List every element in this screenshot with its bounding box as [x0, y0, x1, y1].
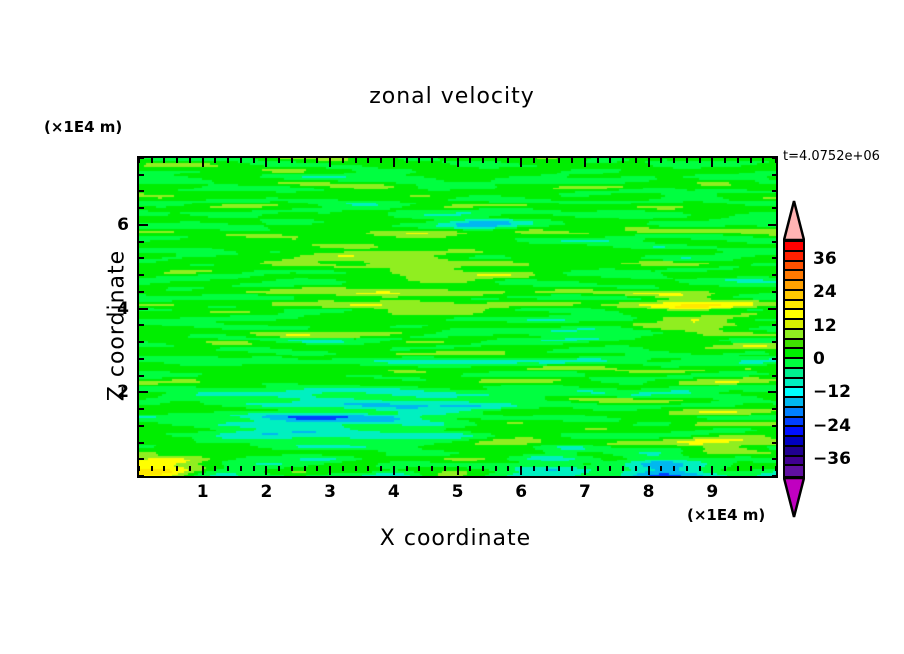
- x-tick-minor: [304, 158, 306, 163]
- page-title: zonal velocity: [0, 84, 904, 109]
- figure-canvas: zonal velocity (×1E4 m) t=4.0752e+06 Z c…: [0, 0, 904, 654]
- x-tick-minor: [546, 466, 548, 471]
- colorbar-segment: [785, 457, 803, 467]
- y-tick-major: [139, 308, 148, 310]
- x-tick-label: 5: [452, 482, 464, 502]
- y-tick-minor: [139, 190, 144, 192]
- x-tick-minor: [482, 466, 484, 471]
- colorbar-tick-label: −24: [813, 416, 851, 436]
- x-tick-minor: [278, 158, 280, 163]
- y-tick-minor: [772, 174, 777, 176]
- x-tick-minor: [227, 466, 229, 471]
- x-tick-minor: [316, 466, 318, 471]
- x-tick-minor: [163, 158, 165, 163]
- x-tick-minor: [750, 466, 752, 471]
- colorbar-segment: [785, 408, 803, 418]
- colorbar-segment: [785, 262, 803, 272]
- x-tick-minor: [189, 466, 191, 471]
- x-tick-minor: [635, 466, 637, 471]
- y-tick-major: [768, 224, 777, 226]
- y-axis-title: Z coordinate: [105, 166, 130, 486]
- x-tick-minor: [533, 158, 535, 163]
- x-tick-minor: [673, 466, 675, 471]
- x-tick-major: [457, 466, 459, 475]
- x-tick-major: [648, 466, 650, 475]
- x-tick-minor: [660, 158, 662, 163]
- colorbar-tick-label: 0: [813, 349, 825, 369]
- y-tick-minor: [139, 375, 144, 377]
- x-tick-minor: [214, 466, 216, 471]
- y-tick-minor: [139, 257, 144, 259]
- x-tick-minor: [418, 158, 420, 163]
- x-axis-ticks-bottom: [139, 466, 776, 478]
- y-tick-major: [139, 391, 148, 393]
- x-tick-minor: [571, 466, 573, 471]
- x-tick-minor: [507, 466, 509, 471]
- colorbar-segment: [785, 301, 803, 311]
- x-tick-minor: [469, 466, 471, 471]
- x-tick-minor: [151, 158, 153, 163]
- contour-plot-area: [137, 156, 778, 478]
- y-tick-major: [139, 224, 148, 226]
- x-tick-minor: [609, 158, 611, 163]
- y-tick-minor: [772, 157, 777, 159]
- x-tick-minor: [342, 466, 344, 471]
- x-tick-minor: [189, 158, 191, 163]
- x-tick-minor: [762, 466, 764, 471]
- y-tick-minor: [139, 358, 144, 360]
- colorbar-segment: [785, 359, 803, 369]
- x-tick-minor: [507, 158, 509, 163]
- y-tick-minor: [139, 157, 144, 159]
- x-tick-minor: [660, 466, 662, 471]
- x-tick-minor: [176, 158, 178, 163]
- x-tick-minor: [495, 158, 497, 163]
- x-tick-minor: [291, 466, 293, 471]
- x-tick-minor: [380, 158, 382, 163]
- x-tick-minor: [495, 466, 497, 471]
- x-tick-major: [202, 466, 204, 475]
- x-tick-minor: [699, 158, 701, 163]
- x-tick-label: 3: [324, 482, 336, 502]
- x-tick-minor: [558, 466, 560, 471]
- x-tick-major: [393, 466, 395, 475]
- colorbar-tick-label: 12: [813, 316, 837, 336]
- colorbar-segment: [785, 418, 803, 428]
- x-tick-minor: [304, 466, 306, 471]
- y-tick-minor: [772, 241, 777, 243]
- colorbar-segment: [785, 271, 803, 281]
- x-tick-minor: [482, 158, 484, 163]
- x-tick-minor: [444, 466, 446, 471]
- x-tick-minor: [431, 466, 433, 471]
- colorbar[interactable]: 3624120−12−24−36: [781, 200, 811, 518]
- colorbar-over-arrow-icon: [783, 200, 805, 240]
- x-tick-major: [202, 158, 204, 167]
- colorbar-segment: [785, 388, 803, 398]
- colorbar-tick-label: −12: [813, 382, 851, 402]
- y-tick-label: 6: [107, 215, 129, 235]
- y-tick-label: 4: [107, 299, 129, 319]
- x-tick-minor: [418, 466, 420, 471]
- x-tick-minor: [214, 158, 216, 163]
- y-tick-minor: [139, 442, 144, 444]
- y-tick-minor: [139, 207, 144, 209]
- colorbar-tick-label: −36: [813, 449, 851, 469]
- y-tick-minor: [772, 291, 777, 293]
- x-tick-minor: [380, 466, 382, 471]
- x-tick-minor: [597, 466, 599, 471]
- y-tick-minor: [772, 341, 777, 343]
- x-tick-minor: [342, 158, 344, 163]
- x-tick-minor: [673, 158, 675, 163]
- x-tick-major: [520, 466, 522, 475]
- colorbar-segment: [785, 379, 803, 389]
- x-tick-label: 7: [579, 482, 591, 502]
- y-tick-major: [768, 308, 777, 310]
- colorbar-segment: [785, 340, 803, 350]
- x-tick-label: 4: [388, 482, 400, 502]
- colorbar-segment: [785, 320, 803, 330]
- x-tick-major: [711, 158, 713, 167]
- y-tick-minor: [772, 324, 777, 326]
- x-axis-ticks-top: [139, 158, 776, 170]
- colorbar-tick-label: 24: [813, 282, 837, 302]
- x-tick-minor: [762, 158, 764, 163]
- y-tick-minor: [139, 408, 144, 410]
- colorbar-segment: [785, 310, 803, 320]
- y-tick-minor: [139, 425, 144, 427]
- colorbar-segment: [785, 281, 803, 291]
- x-tick-major: [265, 158, 267, 167]
- x-tick-minor: [253, 158, 255, 163]
- x-tick-minor: [355, 466, 357, 471]
- x-tick-major: [329, 158, 331, 167]
- colorbar-segment: [785, 330, 803, 340]
- colorbar-segment: [785, 242, 803, 252]
- y-tick-major: [768, 391, 777, 393]
- x-tick-minor: [750, 158, 752, 163]
- x-tick-major: [584, 466, 586, 475]
- x-tick-minor: [163, 466, 165, 471]
- x-tick-label: 6: [515, 482, 527, 502]
- x-tick-minor: [635, 158, 637, 163]
- x-tick-major: [711, 466, 713, 475]
- x-tick-minor: [406, 158, 408, 163]
- x-tick-major: [393, 158, 395, 167]
- x-tick-major: [520, 158, 522, 167]
- x-tick-minor: [278, 466, 280, 471]
- timestamp-label: t=4.0752e+06: [783, 149, 880, 164]
- y-tick-minor: [772, 408, 777, 410]
- x-tick-minor: [151, 466, 153, 471]
- colorbar-segment: [785, 447, 803, 457]
- x-tick-label: 8: [643, 482, 655, 502]
- y-tick-minor: [772, 458, 777, 460]
- x-tick-minor: [444, 158, 446, 163]
- x-tick-minor: [737, 158, 739, 163]
- y-axis-ticks-left: [139, 158, 151, 476]
- x-tick-minor: [367, 466, 369, 471]
- x-tick-major: [329, 466, 331, 475]
- x-tick-minor: [367, 158, 369, 163]
- y-tick-minor: [772, 207, 777, 209]
- colorbar-under-arrow-icon: [783, 478, 805, 518]
- y-axis-unit-label: (×1E4 m): [44, 118, 122, 136]
- y-tick-minor: [139, 241, 144, 243]
- y-tick-minor: [772, 442, 777, 444]
- y-tick-minor: [139, 174, 144, 176]
- x-tick-minor: [737, 466, 739, 471]
- x-tick-minor: [431, 158, 433, 163]
- x-tick-minor: [533, 466, 535, 471]
- x-tick-minor: [699, 466, 701, 471]
- y-tick-label: 2: [107, 382, 129, 402]
- y-tick-minor: [772, 274, 777, 276]
- x-tick-minor: [240, 466, 242, 471]
- x-tick-label: 2: [260, 482, 272, 502]
- colorbar-tick-label: 36: [813, 249, 837, 269]
- colorbar-segment: [785, 291, 803, 301]
- y-tick-minor: [772, 375, 777, 377]
- x-tick-minor: [291, 158, 293, 163]
- colorbar-segment: [785, 398, 803, 408]
- x-tick-minor: [571, 158, 573, 163]
- x-tick-minor: [724, 466, 726, 471]
- y-tick-minor: [772, 425, 777, 427]
- x-tick-minor: [622, 466, 624, 471]
- x-tick-minor: [240, 158, 242, 163]
- x-tick-minor: [609, 466, 611, 471]
- x-tick-minor: [597, 158, 599, 163]
- x-tick-minor: [724, 158, 726, 163]
- colorbar-segment: [785, 437, 803, 447]
- y-tick-minor: [139, 291, 144, 293]
- colorbar-scale[interactable]: [783, 240, 805, 478]
- colorbar-segment: [785, 427, 803, 437]
- y-tick-minor: [139, 458, 144, 460]
- y-tick-minor: [139, 341, 144, 343]
- x-tick-minor: [622, 158, 624, 163]
- y-tick-minor: [772, 257, 777, 259]
- colorbar-segment: [785, 369, 803, 379]
- x-tick-minor: [253, 466, 255, 471]
- y-tick-minor: [139, 475, 144, 477]
- y-tick-minor: [139, 274, 144, 276]
- y-tick-minor: [139, 324, 144, 326]
- velocity-field-heatmap: [139, 158, 776, 476]
- y-tick-minor: [772, 475, 777, 477]
- x-tick-minor: [316, 158, 318, 163]
- x-tick-minor: [355, 158, 357, 163]
- colorbar-segment: [785, 349, 803, 359]
- x-tick-minor: [469, 158, 471, 163]
- x-axis-unit-label: (×1E4 m): [687, 506, 765, 524]
- y-tick-minor: [772, 190, 777, 192]
- x-tick-minor: [227, 158, 229, 163]
- x-tick-minor: [406, 466, 408, 471]
- x-tick-minor: [558, 158, 560, 163]
- x-tick-label: 1: [197, 482, 209, 502]
- y-axis-ticks-right: [765, 158, 777, 476]
- colorbar-segment: [785, 466, 803, 476]
- y-tick-minor: [772, 358, 777, 360]
- x-tick-major: [265, 466, 267, 475]
- x-tick-major: [457, 158, 459, 167]
- colorbar-segment: [785, 252, 803, 262]
- x-tick-minor: [686, 466, 688, 471]
- x-tick-label: 9: [706, 482, 718, 502]
- x-tick-minor: [546, 158, 548, 163]
- x-tick-major: [648, 158, 650, 167]
- x-axis-title: X coordinate: [137, 526, 774, 551]
- x-tick-minor: [686, 158, 688, 163]
- x-tick-major: [584, 158, 586, 167]
- x-tick-minor: [176, 466, 178, 471]
